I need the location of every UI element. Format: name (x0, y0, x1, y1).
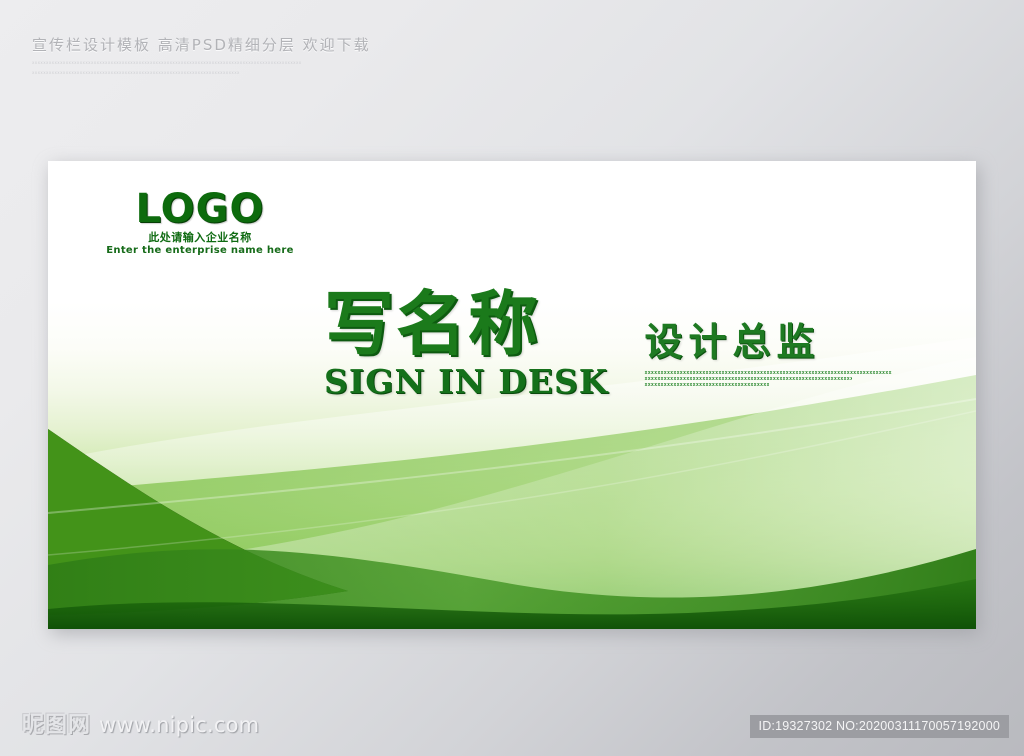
site-watermark: 昵图网 www.nipic.com (22, 707, 259, 739)
title-block: 写名称 SIGN IN DESK 设计总监 xxxxxxxxxxxxxxxxxx… (324, 289, 892, 398)
role-title: 设计总监 (644, 323, 892, 361)
watermark-site-url: www.nipic.com (99, 713, 259, 737)
preview-page: 宣传栏设计模板 高清PSD精细分层 欢迎下载 xxxxxxxxxxxxxxxxx… (0, 0, 1024, 756)
company-name-en: Enter the enterprise name here (85, 245, 315, 256)
main-title: 写名称 (324, 289, 608, 359)
header-micro-line-1: xxxxxxxxxxxxxxxxxxxxxxxxxxxxxxxxxxxxxxxx… (32, 60, 312, 65)
sub-title: SIGN IN DESK (324, 365, 608, 398)
poster-artwork[interactable]: LOGO 此处请输入企业名称 Enter the enterprise name… (48, 161, 976, 629)
header-micro-line-2: xxxxxxxxxxxxxxxxxxxxxxxxxxxxxxxxxxxxxxxx… (32, 70, 240, 75)
title-right-column: 设计总监 xxxxxxxxxxxxxxxxxxxxxxxxxxxxxxxxxxx… (644, 323, 892, 388)
image-id-badge: ID:19327302 NO:20200311170057192000 (750, 715, 1009, 738)
header-caption-text: 宣传栏设计模板 高清PSD精细分层 欢迎下载 (32, 34, 632, 55)
role-micro-line-3: xxxxxxxxxxxxxxxxxxxxxxxxxxxxxxxxxxxxxxxx… (644, 382, 769, 388)
watermark-site-name: 昵图网 (22, 707, 91, 739)
company-name-cn: 此处请输入企业名称 (85, 232, 315, 244)
logo-block[interactable]: LOGO 此处请输入企业名称 Enter the enterprise name… (85, 189, 315, 256)
header-caption: 宣传栏设计模板 高清PSD精细分层 欢迎下载 xxxxxxxxxxxxxxxxx… (32, 34, 632, 75)
role-micro-text-block: xxxxxxxxxxxxxxxxxxxxxxxxxxxxxxxxxxxxxxxx… (644, 370, 892, 388)
title-left-column: 写名称 SIGN IN DESK (324, 289, 608, 398)
logo-mark-text: LOGO (85, 189, 315, 229)
